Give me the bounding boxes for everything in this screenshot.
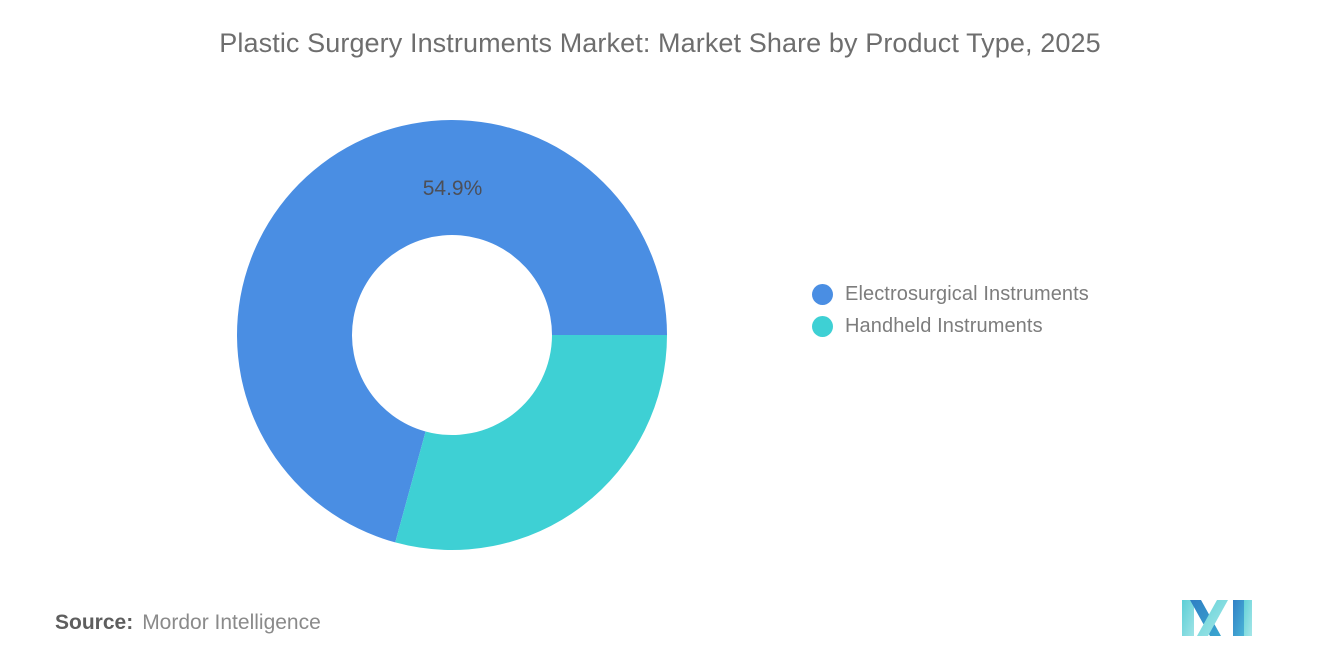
chart-card: Plastic Surgery Instruments Market: Mark…: [0, 0, 1320, 665]
chart-legend: Electrosurgical Instruments Handheld Ins…: [812, 283, 1089, 337]
legend-item-electrosurgical-instruments[interactable]: Electrosurgical Instruments: [812, 283, 1089, 305]
donut-chart-plot-area: 54.9% Electrosurgical Instruments Handhe…: [0, 0, 1320, 665]
source-value: Mordor Intelligence: [142, 611, 321, 635]
source-line: Source: Mordor Intelligence: [55, 611, 321, 635]
donut-slice-handheld-instruments[interactable]: [395, 335, 667, 550]
legend-item-handheld-instruments[interactable]: Handheld Instruments: [812, 315, 1089, 337]
legend-label-handheld-instruments: Handheld Instruments: [845, 315, 1043, 338]
donut-chart-svg: [222, 105, 682, 565]
legend-swatch-icon-handheld-instruments: [812, 316, 833, 337]
source-label: Source:: [55, 611, 133, 635]
legend-label-electrosurgical-instruments: Electrosurgical Instruments: [845, 283, 1089, 306]
legend-swatch-icon-electrosurgical-instruments: [812, 284, 833, 305]
mordor-intelligence-logo-icon: [1181, 598, 1253, 638]
